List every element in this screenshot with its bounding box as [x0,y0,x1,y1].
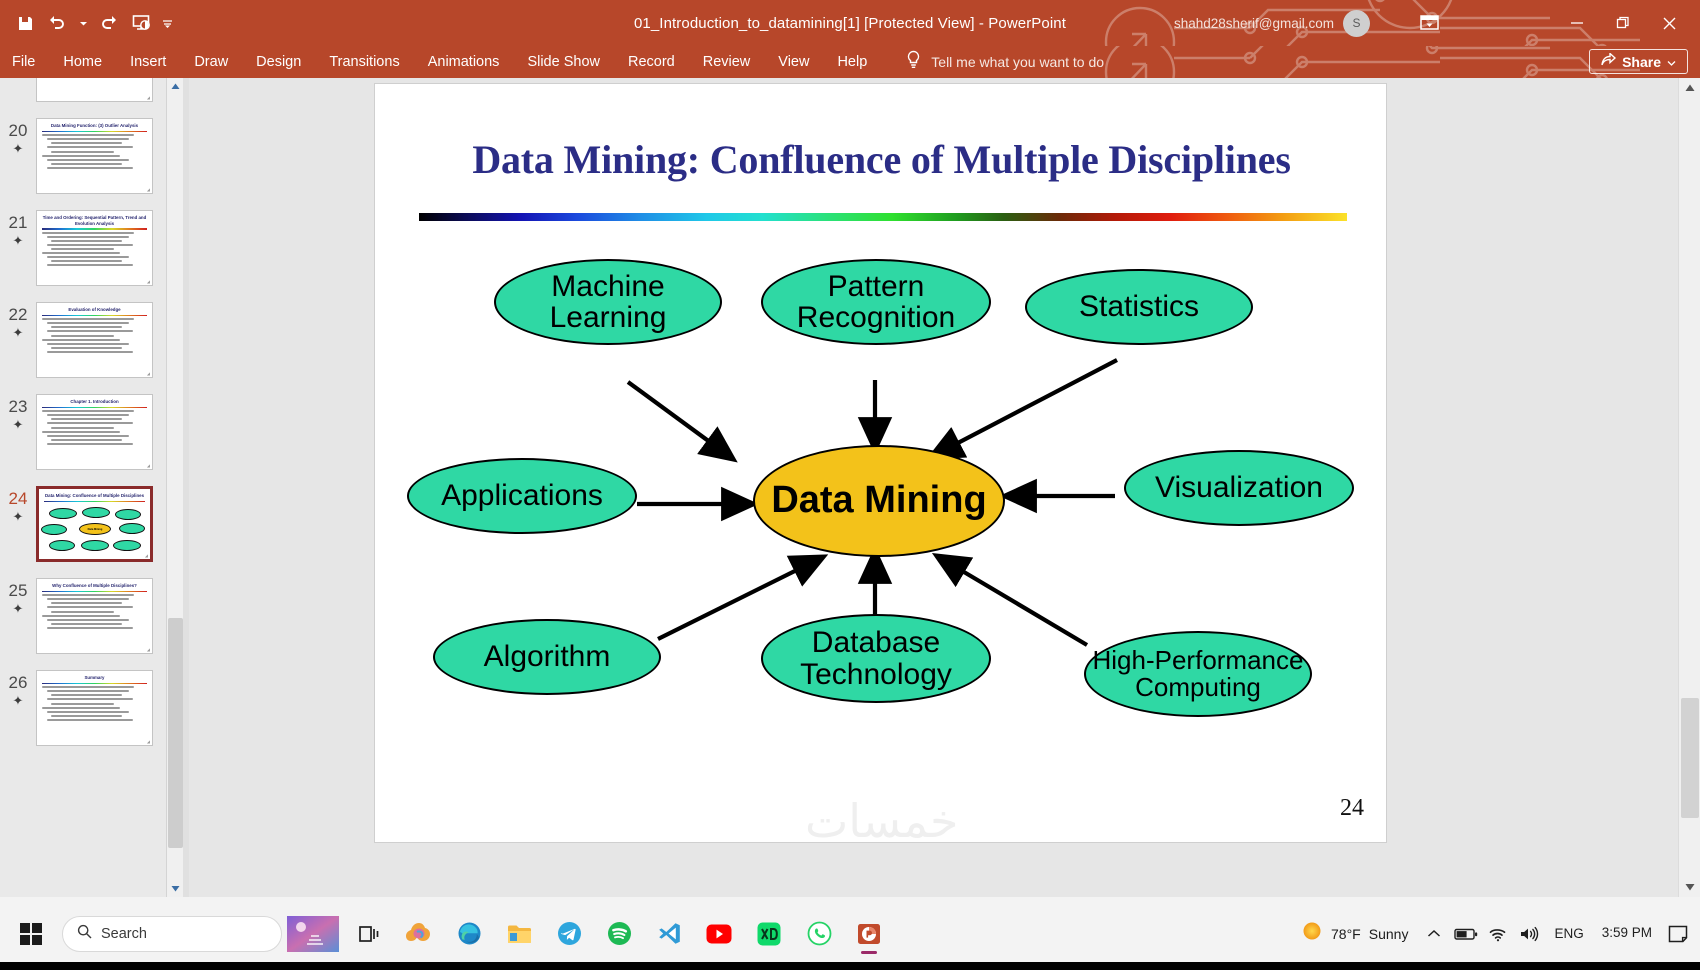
animation-star-icon: ✦ [0,234,36,248]
thumbnail-meta: 22✦ [0,302,36,339]
node-data-mining[interactable]: Data Mining [753,445,1005,557]
thumbnail-meta: 20✦ [0,118,36,155]
share-icon [1601,53,1616,70]
vscode-icon[interactable] [647,912,691,956]
thumbnail-title: Summary [37,671,152,682]
slide-editing-stage: Data Mining: Confluence of Multiple Disc… [189,78,1678,897]
weather-temperature: 78°F [1331,926,1361,942]
quick-access-toolbar [10,0,176,46]
thumbnail-scroll-up-icon[interactable] [167,78,184,95]
tab-draw[interactable]: Draw [182,49,240,75]
thumbnail-text-line [47,690,129,692]
thumbnail-number: 25 [0,582,36,600]
thumbnail-number: 22 [0,306,36,324]
thumbnail-text-line [47,322,129,324]
thumbnail-meta: 24✦ [0,486,36,523]
thumbnail-corner-mark: ◢ [145,553,148,558]
thumbnail-preview[interactable]: Time and Ordering: Sequential Pattern, T… [36,210,153,286]
thumbnail-body-lines [37,410,152,445]
node-label: Applications [435,480,609,511]
node-machine-learning[interactable]: Machine Learning [494,259,722,345]
thumbnail-text-line [51,611,114,613]
thumbnail-text-line [51,623,122,625]
thumbnail-text-line [47,698,133,700]
redo-icon[interactable] [94,8,124,38]
powerpoint-icon[interactable] [847,912,891,956]
start-button-icon[interactable] [8,912,54,956]
search-icon [77,924,92,944]
thumbnail-center-node: Data Mining [79,523,111,535]
thumbnail-text-line [47,167,133,169]
thumbnail-slide-25[interactable]: 25✦Why Confluence of Multiple Discipline… [0,578,176,670]
tab-transitions[interactable]: Transitions [317,49,411,75]
ribbon-display-options-icon[interactable] [1413,8,1445,36]
slide-scroll-up-icon[interactable] [1679,78,1700,98]
taskview-icon[interactable] [347,912,391,956]
thumbnail-title: Data Mining: Confluence of Multiple Disc… [39,489,150,500]
taskbar-clock[interactable]: 3:59 PM [1594,925,1660,942]
thumbnail-text-line [47,422,133,424]
spotify-icon[interactable] [597,912,641,956]
close-button[interactable] [1646,3,1692,43]
thumbnail-text-line [51,715,122,717]
thumbnail-preview[interactable]: Summary◢ [36,670,153,746]
volume-icon[interactable] [1516,914,1544,954]
thumbnail-node [81,540,109,551]
current-slide[interactable]: Data Mining: Confluence of Multiple Disc… [374,83,1387,843]
thumbnail-text-line [47,343,129,345]
thumbnail-scroll-thumb[interactable] [168,618,183,848]
thumbnail-title: Why Confluence of Multiple Disciplines? [37,579,152,590]
thumbnail-corner-mark: ◢ [147,371,150,376]
thumbnail-scroll-down-icon[interactable] [167,880,184,897]
thumbnail-title: Data Mining Function: (3) Outlier Analys… [37,119,152,130]
thumbnail-diagram: Data Mining [39,504,150,556]
customize-qat-icon[interactable] [158,8,176,38]
thumbnail-text-line [51,240,122,242]
thumbnail-text-line [47,264,133,266]
thumbnail-text-line [47,711,129,713]
avatar[interactable]: S [1343,10,1370,37]
node-algorithm[interactable]: Algorithm [433,619,661,695]
tab-slide-show[interactable]: Slide Show [515,49,612,75]
file-explorer-icon[interactable] [497,912,541,956]
thumbnail-text-line [42,594,134,596]
thumbnail-title: Time and Ordering: Sequential Pattern, T… [37,211,152,227]
share-button[interactable]: Share [1589,49,1688,74]
wifi-icon[interactable] [1484,914,1512,954]
rainbow-divider [419,213,1347,221]
animation-star-icon: ✦ [0,694,36,708]
animation-star-icon: ✦ [0,602,36,616]
minimize-button[interactable] [1554,3,1600,43]
thumbnail-rainbow-divider [42,591,147,593]
thumbnail-number: 21 [0,214,36,232]
tell-me-placeholder: Tell me what you want to do [931,54,1104,70]
thumbnail-text-line [51,326,122,328]
thumbnail-text-line [42,410,134,412]
thumbnail-text-line [51,151,114,153]
node-pattern-recognition[interactable]: Pattern Recognition [761,259,991,345]
node-label: Database Technology [763,627,989,689]
slide-number: 24 [1340,795,1364,822]
slide-scroll-thumb[interactable] [1681,698,1699,818]
thumbnail-text-line [51,163,122,165]
thumbnail-text-line [51,248,114,250]
node-visualization[interactable]: Visualization [1124,450,1354,526]
thumbnail-number: 23 [0,398,36,416]
thumbnail-text-line [47,598,129,600]
thumbnail-rainbow-divider [44,501,145,503]
thumbnail-text-line [47,256,129,258]
thumbnail-rainbow-divider [42,683,147,685]
thumbnail-preview[interactable]: Data Mining Function: (3) Outlier Analys… [36,118,153,194]
thumbnail-body-lines [37,318,152,353]
node-label: Visualization [1149,472,1329,503]
slide-title[interactable]: Data Mining: Confluence of Multiple Disc… [375,136,1388,183]
node-label: Statistics [1073,291,1205,322]
tab-review[interactable]: Review [691,49,763,75]
thumbnail-body-lines [37,232,152,267]
battery-icon[interactable] [1452,914,1480,954]
tab-insert[interactable]: Insert [118,49,178,75]
tab-home[interactable]: Home [51,49,114,75]
thumbnail-text-line [51,418,122,420]
thumbnail-text-line [47,244,133,246]
thumbnail-number: 26 [0,674,36,692]
node-statistics[interactable]: Statistics [1025,269,1253,345]
watermark-text: خمسات [805,794,958,848]
thumbnail-text-line [47,146,133,148]
thumbnail-text-line [42,318,134,320]
thumbnail-text-line [47,159,129,161]
thumbnail-text-line [51,703,114,705]
thumbnail-text-line [42,615,120,617]
node-label: High-Performance Computing [1086,647,1310,701]
telegram-icon[interactable] [547,912,591,956]
thumbnail-text-line [42,431,120,433]
thumbnail-number: 20 [0,122,36,140]
thumbnail-preview[interactable]: Chapter 1. Introduction◢ [36,394,153,470]
thumbnail-number: 24 [0,490,36,508]
thumbnail-text-line [47,138,129,140]
thumbnail-text-line [42,686,134,688]
thumbnail-corner-mark: ◢ [147,187,150,192]
thumbnail-node [115,509,141,520]
whatsapp-icon[interactable] [797,912,841,956]
undo-icon[interactable] [42,8,72,38]
thumbnail-node [49,508,77,519]
thumbnail-text-line [42,707,120,709]
start-slideshow-icon[interactable] [126,8,156,38]
thumbnail-corner-mark: ◢ [147,463,150,468]
thumbnail-rainbow-divider [42,131,147,133]
thumbnail-text-line [47,236,129,238]
thumbnail-node [82,507,110,518]
sun-icon [1301,920,1323,947]
thumbnail-text-line [47,627,133,629]
account-info[interactable]: shahd28sherif@gmail.com S [1174,0,1370,46]
slide-thumbnail-pane[interactable]: 19✦◢20✦Data Mining Function: (3) Outlier… [0,78,183,897]
thumbnail-body-lines [37,686,152,721]
ribbon-tab-bar: File Home Insert Draw Design Transitions… [0,46,1700,78]
save-icon[interactable] [10,8,40,38]
copilot-icon[interactable] [397,912,441,956]
thumbnail-node [41,524,67,535]
thumbnail-text-line [47,351,133,353]
thumbnail-text-line [42,339,120,341]
lightbulb-icon [905,50,922,74]
thumbnail-node [49,540,75,551]
thumbnail-text-line [51,427,114,429]
title-bar: 01_Introduction_to_datamining[1] [Protec… [0,0,1700,46]
slide-scrollbar[interactable] [1678,78,1700,897]
language-indicator[interactable]: ENG [1548,926,1589,941]
search-input[interactable]: Search [62,916,282,952]
tab-record[interactable]: Record [616,49,687,75]
thumbnail-slide-19[interactable]: 19✦◢ [0,78,176,118]
thumbnail-text-line [47,443,133,445]
animation-star-icon: ✦ [0,326,36,340]
node-label: Machine Learning [496,271,720,333]
tab-animations[interactable]: Animations [416,49,512,75]
thumbnail-corner-mark: ◢ [147,95,150,100]
thumbnail-scrollbar[interactable] [166,78,183,897]
thumbnail-slide-23[interactable]: 23✦Chapter 1. Introduction◢ [0,394,176,486]
thumbnail-text-line [47,606,133,608]
thumbnail-text-line [42,232,134,234]
node-high-performance-computing[interactable]: High-Performance Computing [1084,631,1312,717]
edge-icon[interactable] [447,912,491,956]
tab-file[interactable]: File [0,49,47,75]
animation-star-icon: ✦ [0,142,36,156]
chevron-down-icon [1667,54,1676,70]
node-label: Pattern Recognition [763,271,989,333]
xd-icon[interactable] [747,912,791,956]
thumbnail-node [119,523,145,534]
windows-taskbar: Search [0,897,1700,970]
thumbnail-slide-20[interactable]: 20✦Data Mining Function: (3) Outlier Ana… [0,118,176,210]
thumbnail-text-line [42,134,134,136]
tell-me-search[interactable]: Tell me what you want to do [905,50,1104,74]
thumbnail-meta: 23✦ [0,394,36,431]
workspace: 19✦◢20✦Data Mining Function: (3) Outlier… [0,78,1700,897]
undo-dropdown-icon[interactable] [74,8,92,38]
node-label: Data Mining [765,481,992,521]
tab-design[interactable]: Design [244,49,313,75]
weather-description: Sunny [1369,926,1409,942]
thumbnail-preview[interactable]: ◢ [36,78,153,102]
tab-help[interactable]: Help [825,49,879,75]
thumbnail-text-line [51,602,122,604]
share-label: Share [1622,54,1661,70]
node-applications[interactable]: Applications [407,458,637,534]
thumbnail-preview[interactable]: Why Confluence of Multiple Disciplines?◢ [36,578,153,654]
thumbnail-text-line [51,260,122,262]
animation-star-icon: ✦ [0,418,36,432]
account-email: shahd28sherif@gmail.com [1174,16,1334,31]
notification-center-icon[interactable] [1664,914,1692,954]
show-hidden-icons-chevron-icon[interactable] [1420,914,1448,954]
thumbnail-rainbow-divider [42,228,147,230]
app-running-indicator [861,951,877,954]
thumbnail-rainbow-divider [42,315,147,317]
animation-star-icon: ✦ [0,510,36,524]
node-database-technology[interactable]: Database Technology [761,614,991,703]
thumbnail-slide-22[interactable]: 22✦Evaluation of Knowledge◢ [0,302,176,394]
thumbnail-rainbow-divider [42,407,147,409]
screen-bottom-edge [0,962,1700,970]
thumbnail-preview[interactable]: Evaluation of Knowledge◢ [36,302,153,378]
tab-view[interactable]: View [766,49,821,75]
thumbnail-body-lines [37,134,152,169]
thumbnail-slide-26[interactable]: 26✦Summary◢ [0,670,176,762]
thumbnail-text-line [42,252,120,254]
thumbnail-text-line [47,435,129,437]
system-tray: 78°F Sunny [1293,914,1700,954]
thumbnail-corner-mark: ◢ [147,647,150,652]
thumbnail-node [113,540,141,551]
thumbnail-text-line [47,414,129,416]
slide-scroll-down-icon[interactable] [1679,877,1700,897]
thumbnail-text-line [51,347,122,349]
thumbnail-body-lines [37,594,152,629]
weather-widget[interactable]: 78°F Sunny [1293,920,1416,947]
thumbnail-meta: 25✦ [0,578,36,615]
thumbnail-slide-24[interactable]: 24✦Data Mining: Confluence of Multiple D… [0,486,176,578]
thumbnail-meta: 21✦ [0,210,36,247]
thumbnail-slide-21[interactable]: 21✦Time and Ordering: Sequential Pattern… [0,210,176,302]
thumbnail-text-line [47,619,129,621]
window-controls [1554,0,1692,46]
thumbnail-text-line [51,694,122,696]
restore-button[interactable] [1600,3,1646,43]
node-label: Algorithm [478,641,617,672]
thumbnail-preview[interactable]: Data Mining: Confluence of Multiple Disc… [36,486,153,562]
thumbnail-meta: 26✦ [0,670,36,707]
youtube-icon[interactable] [697,912,741,956]
thumbnail-text-line [51,142,122,144]
widgets-thumbnail-icon[interactable] [285,912,341,956]
thumbnail-corner-mark: ◢ [147,279,150,284]
search-placeholder: Search [101,926,147,942]
thumbnail-text-line [42,155,120,157]
thumbnail-text-line [51,335,114,337]
thumbnail-text-line [47,719,133,721]
thumbnail-corner-mark: ◢ [147,739,150,744]
thumbnail-title: Chapter 1. Introduction [37,395,152,406]
thumbnail-text-line [51,439,122,441]
thumbnail-title: Evaluation of Knowledge [37,303,152,314]
thumbnail-text-line [47,330,133,332]
